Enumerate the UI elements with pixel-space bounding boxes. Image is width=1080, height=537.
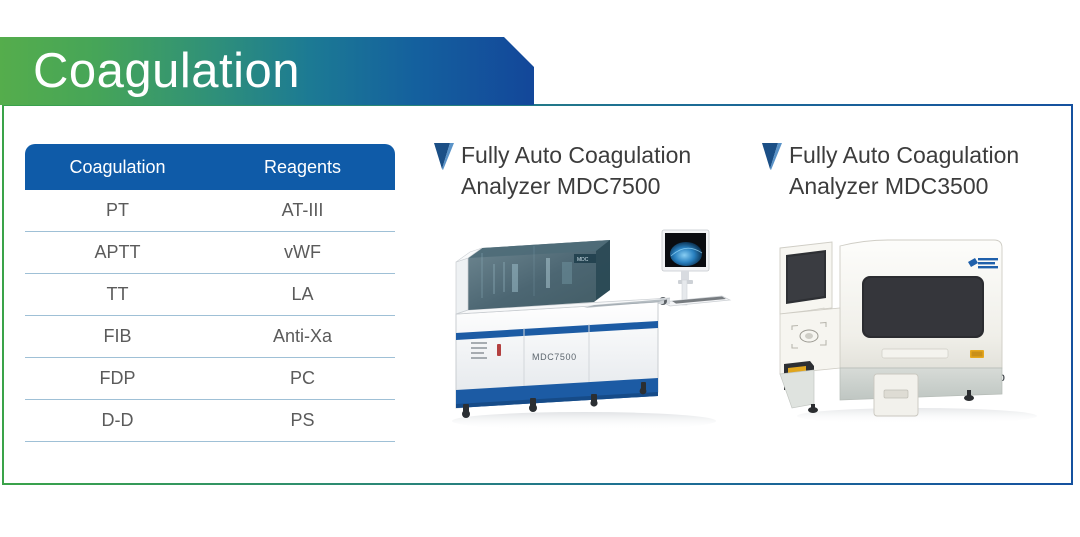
mdc7500-analyzer-illustration: MDC MDC7500 [434,218,734,433]
cell-coagulation: FIB [25,316,210,358]
cell-coagulation: TT [25,274,210,316]
column-header-reagents: Reagents [210,144,395,190]
product-heading: Fully Auto Coagulation Analyzer MDC7500 [434,140,734,202]
column-header-coagulation: Coagulation [25,144,210,190]
blue-flag-icon [434,143,456,173]
cell-coagulation: PT [25,190,210,232]
product-title-line2: Analyzer MDC3500 [789,173,988,199]
cell-reagent: PC [210,358,395,400]
cell-coagulation: APTT [25,232,210,274]
table-row: FDP PC [25,358,395,400]
product-title-line1: Fully Auto Coagulation [789,142,1019,168]
product-image-mdc3500: MDC3500 [762,218,1072,433]
cell-reagent: vWF [210,232,395,274]
table-row: APTT vWF [25,232,395,274]
product-heading: Fully Auto Coagulation Analyzer MDC3500 [762,140,1072,202]
cell-reagent: LA [210,274,395,316]
cell-reagent: PS [210,400,395,442]
product-title: Fully Auto Coagulation Analyzer MDC3500 [789,140,1019,202]
table-row: D-D PS [25,400,395,442]
table-row: FIB Anti-Xa [25,316,395,358]
table-row: PT AT-III [25,190,395,232]
product-card-mdc7500: Fully Auto Coagulation Analyzer MDC7500 [434,140,734,433]
table-row: TT LA [25,274,395,316]
product-title: Fully Auto Coagulation Analyzer MDC7500 [461,140,691,202]
coagulation-table: Coagulation Reagents PT AT-III APTT vWF … [25,144,395,442]
table-head: Coagulation Reagents [25,144,395,190]
cell-reagent: AT-III [210,190,395,232]
coagulation-table-wrapper: Coagulation Reagents PT AT-III APTT vWF … [25,144,395,442]
header-banner: Coagulation [0,37,534,105]
table-body: PT AT-III APTT vWF TT LA FIB Anti-Xa FDP [25,190,395,442]
product-image-mdc7500: MDC MDC7500 [434,218,734,433]
product-title-line1: Fully Auto Coagulation [461,142,691,168]
slide-page: Coagulation Coagulation Reagents PT AT-I… [0,0,1080,537]
svg-text:MDC: MDC [577,257,589,263]
page-title: Coagulation [0,47,300,96]
cell-coagulation: FDP [25,358,210,400]
product-card-mdc3500: Fully Auto Coagulation Analyzer MDC3500 [762,140,1072,433]
blue-flag-icon [762,143,784,173]
product-title-line2: Analyzer MDC7500 [461,173,660,199]
mdc3500-analyzer-illustration: MDC3500 [762,218,1072,433]
cell-coagulation: D-D [25,400,210,442]
cell-reagent: Anti-Xa [210,316,395,358]
table-header-row: Coagulation Reagents [25,144,395,190]
device-model-label-7500: MDC7500 [532,352,577,362]
